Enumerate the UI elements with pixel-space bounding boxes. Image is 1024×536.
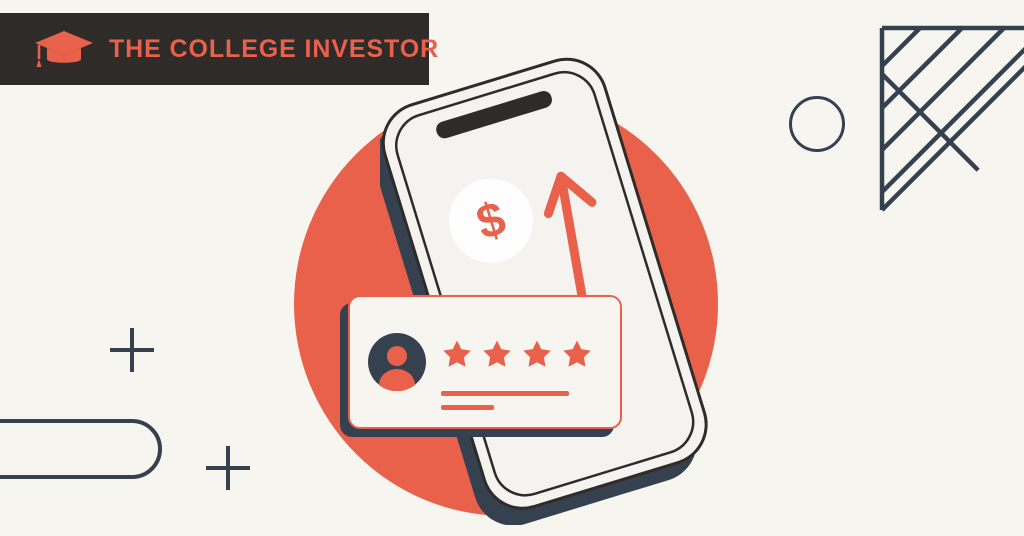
hatched-triangle-decoration — [878, 24, 1024, 214]
outline-circle-decoration — [789, 96, 845, 152]
brand-name: THE COLLEGE INVESTOR — [109, 37, 439, 62]
user-avatar — [368, 333, 426, 391]
review-text-line — [441, 405, 494, 410]
rounded-pill-outline-decoration — [0, 419, 162, 479]
plus-mark-lower-decoration — [206, 446, 250, 490]
illustration-canvas: $ — [0, 0, 1024, 536]
smartphone-mockup: $ — [380, 55, 730, 525]
star-icon — [520, 337, 554, 371]
graduation-cap-icon — [33, 29, 95, 69]
star-icon — [560, 337, 594, 371]
star-rating — [440, 337, 594, 371]
plus-mark-upper-decoration — [110, 328, 154, 372]
review-text-line — [441, 391, 569, 396]
star-icon — [440, 337, 474, 371]
star-icon — [480, 337, 514, 371]
review-rating-card[interactable] — [340, 295, 630, 440]
brand-banner: THE COLLEGE INVESTOR — [0, 13, 429, 85]
